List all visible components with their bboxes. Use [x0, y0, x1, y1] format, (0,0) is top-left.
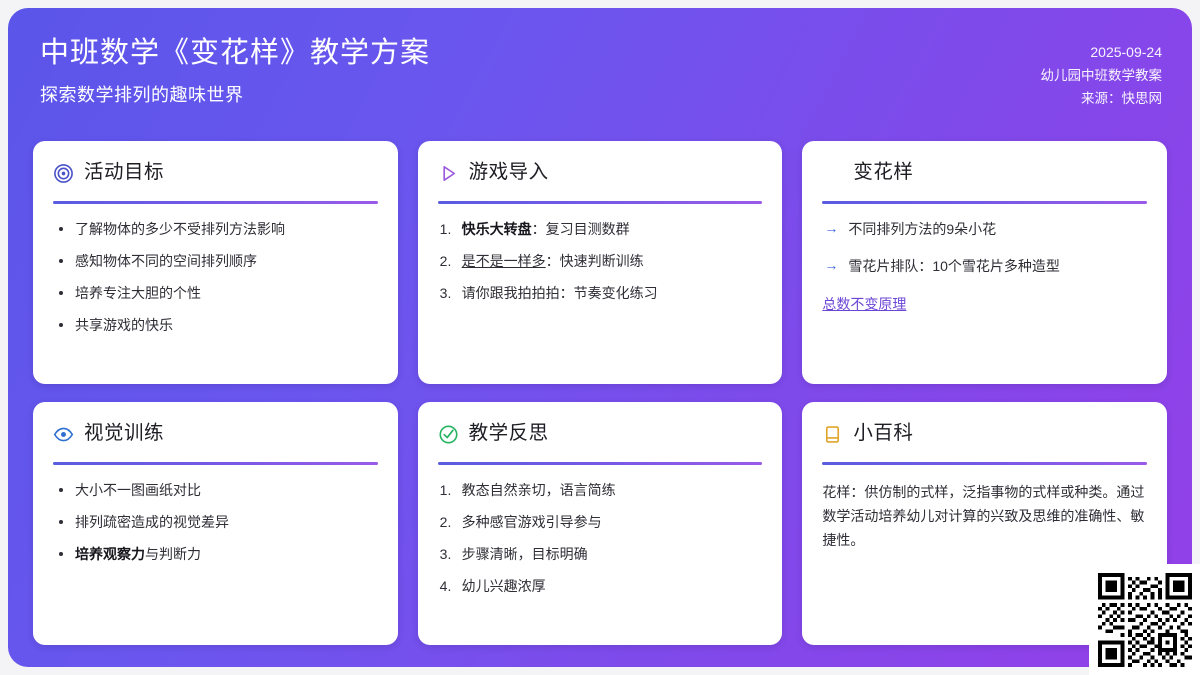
list-item: 教态自然亲切，语言简练 — [438, 480, 763, 501]
card-activity-goals: 活动目标 了解物体的多少不受排列方法影响 感知物体不同的空间排列顺序 培养专注大… — [33, 141, 398, 384]
header-source: 来源：快思网 — [1081, 87, 1162, 110]
card-grid: 活动目标 了解物体的多少不受排列方法影响 感知物体不同的空间排列顺序 培养专注大… — [33, 141, 1167, 645]
list-item-underline: 是不是一样多 — [462, 253, 546, 269]
list-item-emphasis: 培养观察力 — [75, 546, 145, 562]
list-item: 培养观察力与判断力 — [53, 544, 378, 565]
list-item-text: ：复习目测数群 — [532, 221, 630, 237]
page-subtitle: 探索数学排列的趣味世界 — [40, 81, 430, 107]
card-header: 教学反思 — [438, 419, 763, 449]
header-left: 中班数学《变花样》教学方案 探索数学排列的趣味世界 — [40, 34, 430, 107]
card-teaching-reflection: 教学反思 教态自然亲切，语言简练 多种感官游戏引导参与 步骤清晰，目标明确 幼儿… — [418, 402, 783, 645]
list-item: 是不是一样多：快速判断训练 — [438, 251, 763, 272]
card-change-patterns: 变花样 →不同排列方法的9朵小花 →雪花片排队：10个雪花片多种造型 总数不变原… — [802, 141, 1167, 384]
list-item-text: 步骤清晰，目标明确 — [462, 546, 588, 562]
card-divider — [438, 462, 763, 465]
card-title: 视觉训练 — [84, 424, 164, 444]
header-category: 幼儿园中班数学教案 — [1041, 64, 1163, 87]
list-item: 请你跟我拍拍拍：节奏变化练习 — [438, 283, 763, 304]
list-item: 培养专注大胆的个性 — [53, 283, 378, 304]
list-item: 多种感官游戏引导参与 — [438, 512, 763, 533]
list-item-text: 排列疏密造成的视觉差异 — [75, 514, 229, 530]
list-item-text: 培养专注大胆的个性 — [75, 285, 201, 301]
card-header: 变花样 — [822, 158, 1147, 188]
page-title: 中班数学《变花样》教学方案 — [40, 34, 430, 73]
play-icon — [438, 163, 459, 184]
card-divider — [53, 201, 378, 204]
list-item: 快乐大转盘：复习目测数群 — [438, 219, 763, 240]
card-title: 小百科 — [853, 424, 913, 444]
card-divider — [53, 462, 378, 465]
card-divider — [822, 201, 1147, 204]
card-divider — [822, 462, 1147, 465]
goal-list: 了解物体的多少不受排列方法影响 感知物体不同的空间排列顺序 培养专注大胆的个性 … — [53, 219, 378, 336]
card-body: →不同排列方法的9朵小花 →雪花片排队：10个雪花片多种造型 总数不变原理 — [822, 219, 1147, 368]
check-circle-icon — [438, 424, 459, 445]
list-item-text: 多种感官游戏引导参与 — [462, 514, 602, 530]
book-icon — [822, 424, 843, 445]
list-item: →雪花片排队：10个雪花片多种造型 — [822, 256, 1147, 277]
list-item-text: 了解物体的多少不受排列方法影响 — [75, 221, 285, 237]
list-item-text: 与判断力 — [145, 546, 201, 562]
card-title: 教学反思 — [469, 424, 549, 444]
card-header: 游戏导入 — [438, 158, 763, 188]
list-item: →不同排列方法的9朵小花 — [822, 219, 1147, 240]
list-item-text: 请你跟我拍拍拍：节奏变化练习 — [462, 285, 658, 301]
target-icon — [53, 163, 74, 184]
reflection-list: 教态自然亲切，语言简练 多种感官游戏引导参与 步骤清晰，目标明确 幼儿兴趣浓厚 — [438, 480, 763, 597]
visual-list: 大小不一图画纸对比 排列疏密造成的视觉差异 培养观察力与判断力 — [53, 480, 378, 565]
list-item-text: ：快速判断训练 — [546, 253, 644, 269]
card-body: 大小不一图画纸对比 排列疏密造成的视觉差异 培养观察力与判断力 — [53, 480, 378, 629]
qr-code-image — [1098, 573, 1192, 667]
list-item-text: 感知物体不同的空间排列顺序 — [75, 253, 257, 269]
card-divider — [438, 201, 763, 204]
list-item: 排列疏密造成的视觉差异 — [53, 512, 378, 533]
card-body: 了解物体的多少不受排列方法影响 感知物体不同的空间排列顺序 培养专注大胆的个性 … — [53, 219, 378, 368]
card-title: 活动目标 — [84, 163, 164, 183]
card-header: 视觉训练 — [53, 419, 378, 449]
list-item-text: 共享游戏的快乐 — [75, 317, 173, 333]
principle-link[interactable]: 总数不变原理 — [822, 294, 906, 315]
arrow-right-icon: → — [824, 218, 838, 239]
arrow-right-icon: → — [824, 255, 838, 276]
card-title: 游戏导入 — [469, 163, 549, 183]
header-date: 2025-09-24 — [1090, 40, 1162, 64]
card-header: 小百科 — [822, 419, 1147, 449]
poster-header: 中班数学《变花样》教学方案 探索数学排列的趣味世界 2025-09-24 幼儿园… — [8, 8, 1192, 133]
poster-root: 中班数学《变花样》教学方案 探索数学排列的趣味世界 2025-09-24 幼儿园… — [0, 0, 1200, 675]
encyclopedia-text: 花样：供仿制的式样，泛指事物的式样或种类。通过数学活动培养幼儿对计算的兴致及思维… — [822, 480, 1147, 552]
list-item-text: 雪花片排队：10个雪花片多种造型 — [848, 258, 1060, 274]
list-item: 感知物体不同的空间排列顺序 — [53, 251, 378, 272]
list-item-text: 大小不一图画纸对比 — [75, 482, 201, 498]
card-header: 活动目标 — [53, 158, 378, 188]
card-title: 变花样 — [853, 163, 913, 183]
list-item: 步骤清晰，目标明确 — [438, 544, 763, 565]
list-item: 大小不一图画纸对比 — [53, 480, 378, 501]
list-item-text: 不同排列方法的9朵小花 — [848, 221, 996, 237]
card-game-intro: 游戏导入 快乐大转盘：复习目测数群 是不是一样多：快速判断训练 请你跟我拍拍拍：… — [418, 141, 783, 384]
header-meta: 2025-09-24 幼儿园中班数学教案 来源：快思网 — [1041, 34, 1163, 111]
game-steps-list: 快乐大转盘：复习目测数群 是不是一样多：快速判断训练 请你跟我拍拍拍：节奏变化练… — [438, 219, 763, 304]
card-visual-training: 视觉训练 大小不一图画纸对比 排列疏密造成的视觉差异 培养观察力与判断力 — [33, 402, 398, 645]
list-item: 幼儿兴趣浓厚 — [438, 576, 763, 597]
card-body: 教态自然亲切，语言简练 多种感官游戏引导参与 步骤清晰，目标明确 幼儿兴趣浓厚 — [438, 480, 763, 629]
poster-gradient-panel: 中班数学《变花样》教学方案 探索数学排列的趣味世界 2025-09-24 幼儿园… — [8, 8, 1192, 667]
pattern-list: →不同排列方法的9朵小花 →雪花片排队：10个雪花片多种造型 — [822, 219, 1147, 277]
list-item-emphasis: 快乐大转盘 — [462, 221, 532, 237]
qr-code[interactable] — [1089, 564, 1200, 675]
card-body: 快乐大转盘：复习目测数群 是不是一样多：快速判断训练 请你跟我拍拍拍：节奏变化练… — [438, 219, 763, 368]
icon-placeholder — [822, 163, 843, 184]
eye-icon — [53, 424, 74, 445]
list-item-text: 幼儿兴趣浓厚 — [462, 578, 546, 594]
list-item: 了解物体的多少不受排列方法影响 — [53, 219, 378, 240]
list-item-text: 教态自然亲切，语言简练 — [462, 482, 616, 498]
list-item: 共享游戏的快乐 — [53, 315, 378, 336]
